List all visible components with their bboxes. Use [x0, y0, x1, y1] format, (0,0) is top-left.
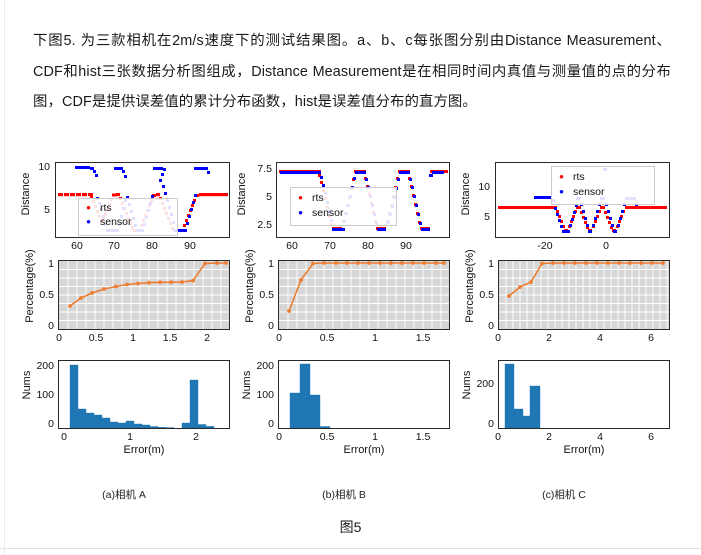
legend-label-rts: rts	[312, 192, 324, 204]
axes-b-cdf	[278, 260, 450, 330]
y-tick-label: 0	[26, 320, 54, 332]
rts-marker-icon: •	[296, 193, 305, 203]
y-tick-label: 100	[244, 389, 274, 401]
y-tick-label: 2.5	[240, 219, 272, 231]
y-tick-label: 0	[464, 418, 494, 430]
legend-label-rts: rts	[573, 171, 585, 183]
panel-c-distance: Distance 10 5	[452, 148, 676, 255]
x-tick-label: 4	[592, 332, 608, 344]
y-tick-label: 0.5	[26, 289, 54, 301]
cdf-plot-c	[499, 261, 669, 329]
legend-label-rts: rts	[100, 202, 112, 214]
x-tick-label: 1	[123, 431, 137, 443]
x-axis-title: Error(m)	[58, 444, 230, 456]
x-tick-label: 1	[362, 431, 388, 443]
legend-label-sensor: sensor	[573, 186, 605, 198]
y-tick-label: 0.5	[246, 289, 274, 301]
x-tick-label: 6	[643, 332, 659, 344]
y-tick-label: 200	[464, 378, 494, 390]
legend-label-sensor: sensor	[100, 216, 132, 228]
y-tick-label: 0	[24, 418, 54, 430]
x-tick-label: 0	[597, 240, 615, 252]
axes-c-hist	[498, 360, 670, 429]
y-tick-label: 10	[464, 181, 490, 193]
sensor-marker-icon: •	[84, 217, 93, 227]
x-tick-label: 1.5	[157, 332, 183, 344]
panel-a-hist: Nums 200 100 0	[12, 354, 236, 460]
panel-a-distance: Distance 10 5	[12, 148, 236, 255]
axes-b-distance: • rts • sensor	[276, 162, 450, 238]
y-tick-label: 1	[26, 258, 54, 270]
panel-c-hist: Nums 200 0 0 2 4 6	[452, 354, 676, 460]
x-tick-label: 2	[541, 332, 557, 344]
y-tick-label: 10	[24, 161, 50, 173]
panel-a-cdf: Percentage(%) 1 0.5 0	[12, 255, 236, 354]
histogram-b	[279, 361, 449, 428]
sensor-marker-icon: •	[557, 187, 566, 197]
x-tick-label: 70	[102, 240, 126, 252]
legend-row-rts: • rts	[84, 201, 172, 215]
figure-page: 下图5. 为三款相机在2m/s速度下的测试结果图。a、b、c每张图分别由Dist…	[0, 0, 701, 555]
panel-b-cdf: Percentage(%) 1 0.5 0	[232, 255, 456, 354]
x-tick-label: 0.5	[314, 431, 340, 443]
x-tick-label: 80	[140, 240, 164, 252]
y-tick-label: 5	[464, 211, 490, 223]
y-tick-label: 200	[24, 360, 54, 372]
legend-row-sensor: • sensor	[557, 184, 649, 199]
x-tick-label: 1.5	[410, 332, 436, 344]
figure-column-b: Distance 7.5 5 2.5	[232, 148, 456, 493]
x-tick-label: 4	[592, 431, 608, 443]
y-tick-label: 0	[244, 418, 274, 430]
axes-b-hist	[278, 360, 450, 429]
x-axis-title: Error(m)	[278, 444, 450, 456]
y-tick-label: 0.5	[466, 289, 494, 301]
histogram-a	[59, 361, 229, 428]
x-tick-label: 2	[541, 431, 557, 443]
legend-row-rts: • rts	[557, 169, 649, 184]
rts-marker-icon: •	[557, 172, 566, 182]
legend-c-distance: • rts • sensor	[551, 166, 655, 205]
y-tick-label: 5	[24, 204, 50, 216]
y-tick-label: 100	[24, 389, 54, 401]
legend-b-distance: • rts • sensor	[290, 187, 397, 226]
subcaption-b: (b)相机 B	[232, 487, 456, 502]
x-tick-label: 0.5	[314, 332, 340, 344]
figure-column-a: Distance 10 5	[12, 148, 236, 493]
x-tick-label: 90	[394, 240, 418, 252]
x-tick-label: 0	[46, 332, 72, 344]
x-tick-label: 60	[280, 240, 304, 252]
axes-a-distance: • rts • sensor	[55, 162, 230, 238]
legend-a-distance: • rts • sensor	[78, 198, 178, 236]
cdf-plot-b	[279, 261, 449, 329]
x-tick-label: 0	[490, 431, 506, 443]
cdf-plot-a	[59, 261, 229, 329]
y-tick-label: 1	[246, 258, 274, 270]
y-tick-label: 7.5	[240, 163, 272, 175]
x-tick-label: 80	[356, 240, 380, 252]
x-tick-label: -20	[530, 240, 560, 252]
figure-column-c: Distance 10 5	[452, 148, 676, 493]
panel-c-cdf: Percentage(%) 1 0.5 0	[452, 255, 676, 354]
panel-b-hist: Nums 200 100 0 0 0.5 1	[232, 354, 456, 460]
y-tick-label: 1	[466, 258, 494, 270]
sensor-marker-icon: •	[296, 208, 305, 218]
figure-grid: Distance 10 5	[0, 148, 701, 493]
subcaption-a: (a)相机 A	[12, 487, 236, 502]
bottom-rule	[0, 548, 701, 549]
histogram-c	[499, 361, 669, 428]
description-paragraph: 下图5. 为三款相机在2m/s速度下的测试结果图。a、b、c每张图分别由Dist…	[33, 26, 671, 118]
panel-b-distance: Distance 7.5 5 2.5	[232, 148, 456, 255]
y-tick-label: 200	[244, 360, 274, 372]
subcaption-c: (c)相机 C	[452, 487, 676, 502]
x-tick-label: 1	[120, 332, 146, 344]
x-tick-label: 70	[318, 240, 342, 252]
axes-a-cdf	[58, 260, 230, 330]
x-tick-label: 1.5	[410, 431, 436, 443]
y-axis-title: Percentage(%)	[244, 241, 256, 331]
y-axis-title: Percentage(%)	[24, 241, 36, 331]
axes-c-cdf	[498, 260, 670, 330]
x-tick-label: 0	[266, 332, 292, 344]
figure-caption: 图5	[0, 517, 701, 537]
axes-a-hist	[58, 360, 230, 429]
x-tick-label: 2	[194, 332, 220, 344]
x-tick-label: 0	[490, 332, 506, 344]
axes-c-distance: • rts • sensor	[495, 162, 670, 238]
y-tick-label: 0	[466, 320, 494, 332]
y-tick-label: 5	[240, 191, 272, 203]
y-axis-title: Percentage(%)	[464, 241, 476, 331]
x-tick-label: 1	[362, 332, 388, 344]
rts-marker-icon: •	[84, 203, 93, 213]
y-tick-label: 0	[246, 320, 274, 332]
x-tick-label: 60	[65, 240, 89, 252]
x-axis-title: Error(m)	[498, 444, 670, 456]
x-tick-label: 90	[178, 240, 202, 252]
x-tick-label: 0	[266, 431, 292, 443]
legend-row-rts: • rts	[296, 190, 391, 205]
legend-label-sensor: sensor	[312, 207, 344, 219]
x-tick-label: 0	[57, 431, 71, 443]
legend-row-sensor: • sensor	[296, 205, 391, 220]
x-tick-label: 2	[189, 431, 203, 443]
x-tick-label: 0.5	[83, 332, 109, 344]
x-tick-label: 6	[643, 431, 659, 443]
legend-row-sensor: • sensor	[84, 215, 172, 229]
